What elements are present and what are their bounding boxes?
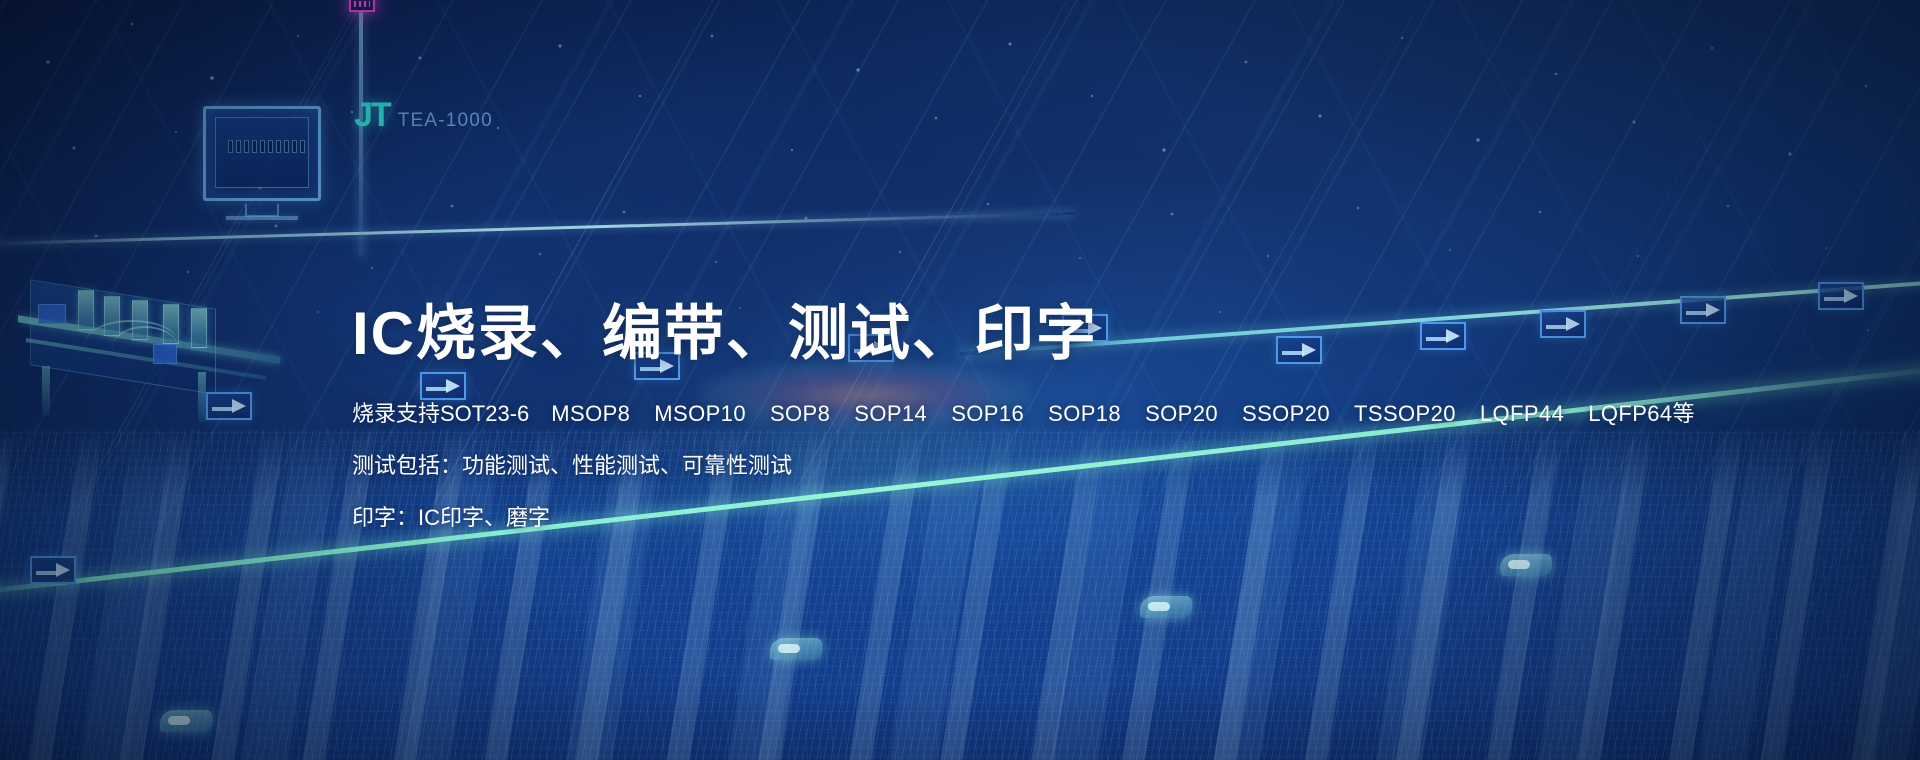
beam-shuttle [1140,596,1192,618]
chip-tray-icon [1818,282,1864,310]
monitor-chip-row [228,140,305,153]
beam-shuttle [160,710,212,732]
chip-tray-icon [206,392,252,420]
package-lead-label: 烧录支持SOT23-6 [352,403,529,425]
brand-logo: JT TEA-1000 [354,98,493,132]
machine-cylinder [191,308,207,348]
package-item: SOP8 [770,403,830,425]
industrial-machine [8,216,328,411]
machine-control-box [38,304,66,324]
magenta-indicator-chip [349,0,375,12]
brand-model-text: TEA-1000 [398,111,493,130]
package-item: LQFP64等 [1588,403,1695,425]
beam-shuttle [770,638,822,660]
machine-leg [42,366,50,416]
monitor-display [203,106,321,201]
package-item: SOP20 [1145,403,1218,425]
chip-tray-icon [30,556,76,584]
package-item: SOP16 [951,403,1024,425]
marking-scope-line: 印字：IC印字、磨字 [352,507,1652,529]
banner-content: IC烧录、编带、测试、印字 烧录支持SOT23-6 MSOP8 MSOP10 S… [352,300,1652,529]
package-item: SOP18 [1048,403,1121,425]
brand-mark-text: JT [354,98,390,132]
package-support-line: 烧录支持SOT23-6 MSOP8 MSOP10 SOP8 SOP14 SOP1… [352,403,1652,425]
page-title: IC烧录、编带、测试、印字 [352,300,1652,367]
chip-tray-icon [1680,296,1726,324]
package-item: MSOP10 [654,403,746,425]
package-item: MSOP8 [551,403,630,425]
monitor-screen [215,117,309,188]
machine-leg [198,372,206,422]
package-item: SOP14 [854,403,927,425]
hero-banner: JT TEA-1000 IC烧录、编带、测试、印字 烧 [0,0,1920,760]
package-list: 烧录支持SOT23-6 MSOP8 MSOP10 SOP8 SOP14 SOP1… [352,403,1695,425]
beam-shuttle [1500,554,1552,576]
machine-cylinder [78,290,94,330]
testing-scope-line: 测试包括：功能测试、性能测试、可靠性测试 [352,455,1652,477]
package-item: LQFP44 [1480,403,1564,425]
package-item: SSOP20 [1242,403,1330,425]
package-item: TSSOP20 [1354,403,1456,425]
